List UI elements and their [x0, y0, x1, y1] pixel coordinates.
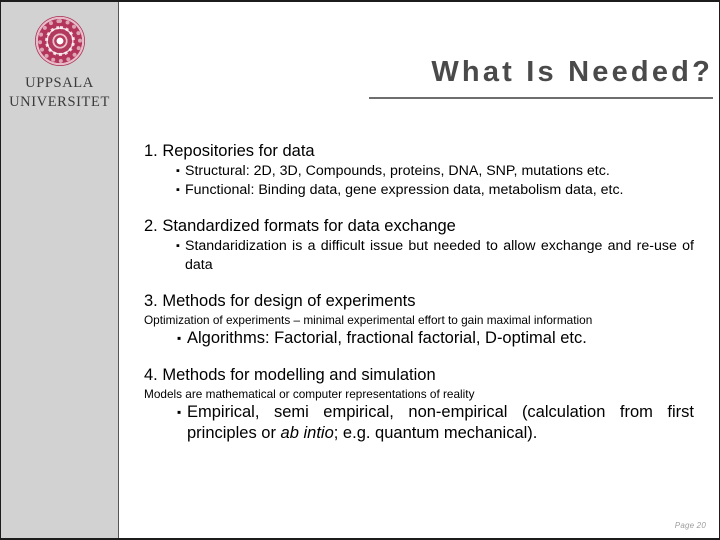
uppsala-university-seal-icon — [35, 16, 85, 66]
page-number: Page 20 — [675, 521, 706, 530]
slide-canvas: UPPSALA UNIVERSITET What Is Needed? 1. R… — [0, 0, 720, 540]
brand-wordmark-line2: UNIVERSITET — [1, 93, 118, 112]
slide-body: 1. Repositories for data ▪ Structural: 2… — [144, 141, 694, 444]
section-1-bullet-2-text: Functional: Binding data, gene expressio… — [185, 182, 624, 198]
brand-sidebar: UPPSALA UNIVERSITET — [1, 2, 119, 538]
section-4: 4. Methods for modelling and simulation … — [144, 365, 694, 444]
section-4-heading: 4. Methods for modelling and simulation — [144, 365, 694, 386]
section-1-bullet-1: ▪ Structural: 2D, 3D, Compounds, protein… — [144, 162, 694, 181]
section-3-heading: 3. Methods for design of experiments — [144, 291, 694, 312]
bullet-square-icon: ▪ — [177, 402, 181, 423]
section-2-heading: 2. Standardized formats for data exchang… — [144, 216, 694, 237]
section-4-bullet-1: ▪Empirical, semi empirical, non-empirica… — [144, 402, 694, 444]
bullet-square-icon: ▪ — [177, 328, 181, 349]
section-4-bullet-1-text-italic: ab intio — [281, 424, 334, 442]
seal-container — [1, 16, 118, 71]
section-spacer — [144, 349, 694, 365]
brand-wordmark-line1: UPPSALA — [1, 74, 118, 93]
brand-wordmark: UPPSALA UNIVERSITET — [1, 74, 118, 112]
bullet-square-icon: ▪ — [176, 181, 180, 200]
section-1-bullet-1-text: Structural: 2D, 3D, Compounds, proteins,… — [185, 163, 610, 179]
section-4-bullet-1-text-post: ; e.g. quantum mechanical). — [334, 424, 538, 442]
section-3-note: Optimization of experiments – minimal ex… — [144, 312, 694, 328]
section-3-bullet-1-text: Algorithms: Factorial, fractional factor… — [187, 329, 587, 347]
bullet-square-icon: ▪ — [176, 237, 180, 256]
section-3-bullet-1: ▪ Algorithms: Factorial, fractional fact… — [144, 328, 694, 349]
section-2-bullet-1-text: Standaridization is a difficult issue bu… — [185, 238, 694, 273]
section-4-note: Models are mathematical or computer repr… — [144, 386, 694, 402]
section-spacer — [144, 199, 694, 216]
section-2: 2. Standardized formats for data exchang… — [144, 216, 694, 274]
slide-title: What Is Needed? — [301, 56, 713, 89]
section-1-bullet-2: ▪ Functional: Binding data, gene express… — [144, 181, 694, 200]
title-underline-rule — [369, 97, 713, 99]
section-1: 1. Repositories for data ▪ Structural: 2… — [144, 141, 694, 199]
section-1-heading: 1. Repositories for data — [144, 141, 694, 162]
section-spacer — [144, 274, 694, 291]
bullet-square-icon: ▪ — [176, 162, 180, 181]
section-2-bullet-1: ▪ Standaridization is a difficult issue … — [144, 237, 694, 274]
section-3: 3. Methods for design of experiments Opt… — [144, 291, 694, 349]
